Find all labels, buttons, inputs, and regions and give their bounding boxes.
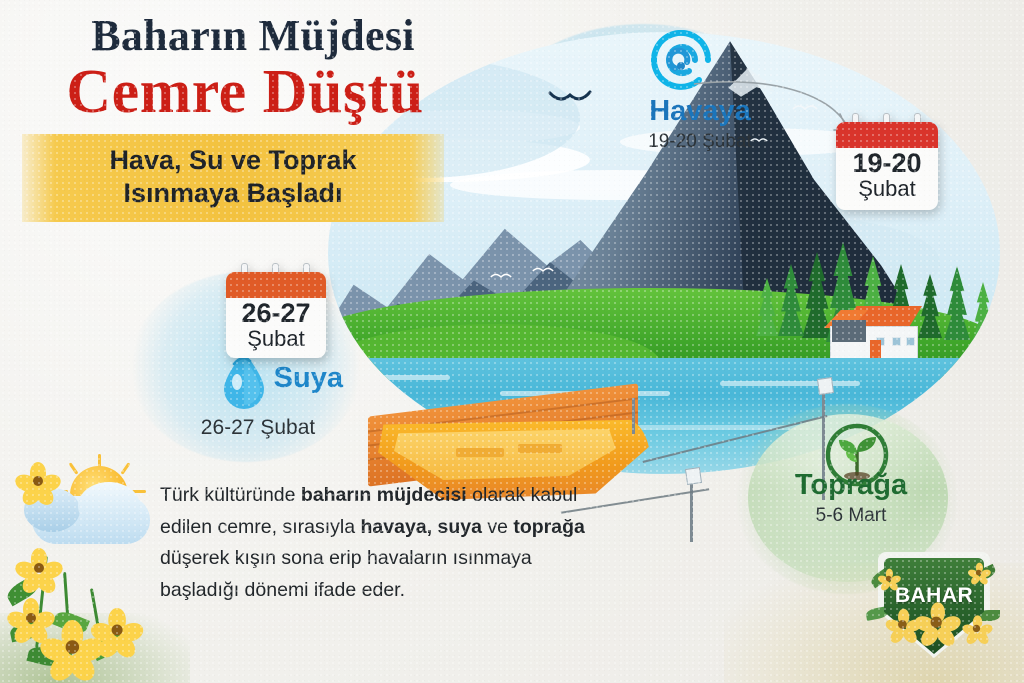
calendar-air-month: Şubat <box>836 178 938 200</box>
cloud-icon <box>78 482 140 530</box>
water-ripple <box>720 381 860 386</box>
bahar-badge: BAHAR <box>866 552 1002 664</box>
calendar-water-days: 26-27 <box>226 300 326 327</box>
water-label: Suya <box>274 363 343 395</box>
flower <box>916 602 958 644</box>
stage-label-soil: Toprağa 5-6 Mart <box>766 470 936 527</box>
soil-label: Toprağa <box>766 470 936 502</box>
calendar-air-days: 19-20 <box>836 150 938 177</box>
flower <box>879 569 900 590</box>
sign-plate <box>685 467 702 485</box>
subtitle-highlight-band: Hava, Su ve Toprak Isınmaya Başladı <box>22 134 444 222</box>
paragraph-text: Türk kültüründe baharın müjdecisi olarak… <box>160 484 585 601</box>
subtitle-line-1: Hava, Su ve Toprak <box>22 144 444 177</box>
title-line-2: Cemre Düştü <box>0 61 480 124</box>
stage-label-water: Suya 26-27 Şubat <box>163 348 343 440</box>
subtitle-line-2: Isınmaya Başladı <box>22 177 444 210</box>
lakeside-cabin <box>826 306 922 360</box>
water-date: 26-27 Şubat <box>173 416 343 440</box>
seagull-icon <box>548 88 592 108</box>
bird-icon <box>532 264 554 276</box>
sun-cloud-flowers-decoration <box>0 452 180 683</box>
infographic-canvas: Baharın Müjdesi Cemre Düştü Hava, Su ve … <box>0 0 1024 683</box>
flower <box>969 563 990 584</box>
flower <box>887 609 920 642</box>
dock-post <box>632 398 635 434</box>
title-block: Baharın Müjdesi Cemre Düştü Hava, Su ve … <box>0 14 480 222</box>
flower <box>963 615 990 642</box>
sign-plate <box>817 377 834 395</box>
description-paragraph: Türk kültüründe baharın müjdecisi olarak… <box>160 480 612 606</box>
title-line-1: Baharın Müjdesi <box>0 14 480 59</box>
soil-date: 5-6 Mart <box>766 505 936 527</box>
calendar-water-month: Şubat <box>226 328 326 350</box>
bird-icon <box>490 270 512 282</box>
calendar-card-water: 26-27 Şubat <box>226 272 326 358</box>
calendar-card-air: 19-20 Şubat <box>836 122 938 210</box>
